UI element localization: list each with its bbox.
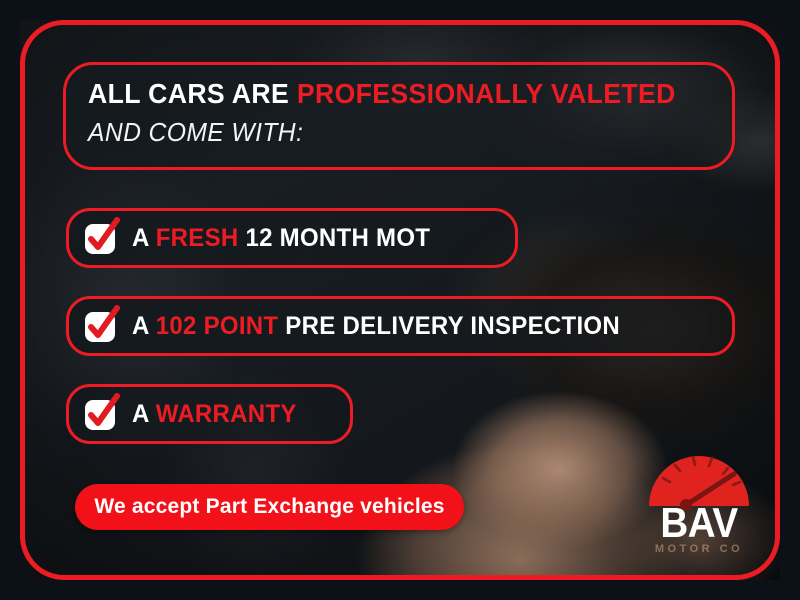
checkbox-checked-icon	[85, 221, 119, 255]
feature-highlight: 102 POINT	[156, 312, 279, 340]
logo-wordmark: BAV	[639, 502, 759, 544]
headline-line-1: ALL CARS ARE PROFESSIONALLY VALETED	[88, 76, 700, 113]
banner-content: ALL CARS ARE PROFESSIONALLY VALETED AND …	[0, 0, 800, 600]
logo-subtitle: MOTOR CO	[634, 544, 764, 555]
feature-row-inspection: A 102 POINT PRE DELIVERY INSPECTION	[66, 296, 735, 356]
feature-prefix: A	[132, 312, 156, 340]
feature-prefix: A	[132, 224, 156, 252]
bav-motor-co-logo: BAV MOTOR CO	[634, 448, 764, 558]
feature-row-warranty: A WARRANTY	[66, 384, 353, 444]
feature-label-mot: A FRESH 12 MONTH MOT	[132, 224, 430, 253]
feature-label-warranty: A WARRANTY	[132, 400, 297, 429]
feature-row-mot: A FRESH 12 MONTH MOT	[66, 208, 518, 268]
feature-prefix: A	[132, 400, 156, 428]
headline-line-2: AND COME WITH:	[88, 117, 700, 148]
red-check-mark	[83, 305, 123, 345]
red-check-mark	[83, 217, 123, 257]
headline-panel: ALL CARS ARE PROFESSIONALLY VALETED AND …	[63, 62, 735, 170]
feature-suffix: 12 MONTH MOT	[238, 224, 430, 252]
headline-white-part: ALL CARS ARE	[88, 78, 297, 109]
part-exchange-button[interactable]: We accept Part Exchange vehicles	[75, 484, 464, 530]
feature-highlight: WARRANTY	[156, 400, 297, 428]
part-exchange-label: We accept Part Exchange vehicles	[94, 495, 444, 519]
checkbox-checked-icon	[85, 397, 119, 431]
red-check-mark	[83, 393, 123, 433]
feature-suffix: PRE DELIVERY INSPECTION	[278, 312, 620, 340]
advert-banner: ALL CARS ARE PROFESSIONALLY VALETED AND …	[0, 0, 800, 600]
feature-label-inspection: A 102 POINT PRE DELIVERY INSPECTION	[132, 312, 620, 341]
feature-highlight: FRESH	[156, 224, 239, 252]
checkbox-checked-icon	[85, 309, 119, 343]
headline-red-part: PROFESSIONALLY VALETED	[297, 78, 676, 109]
